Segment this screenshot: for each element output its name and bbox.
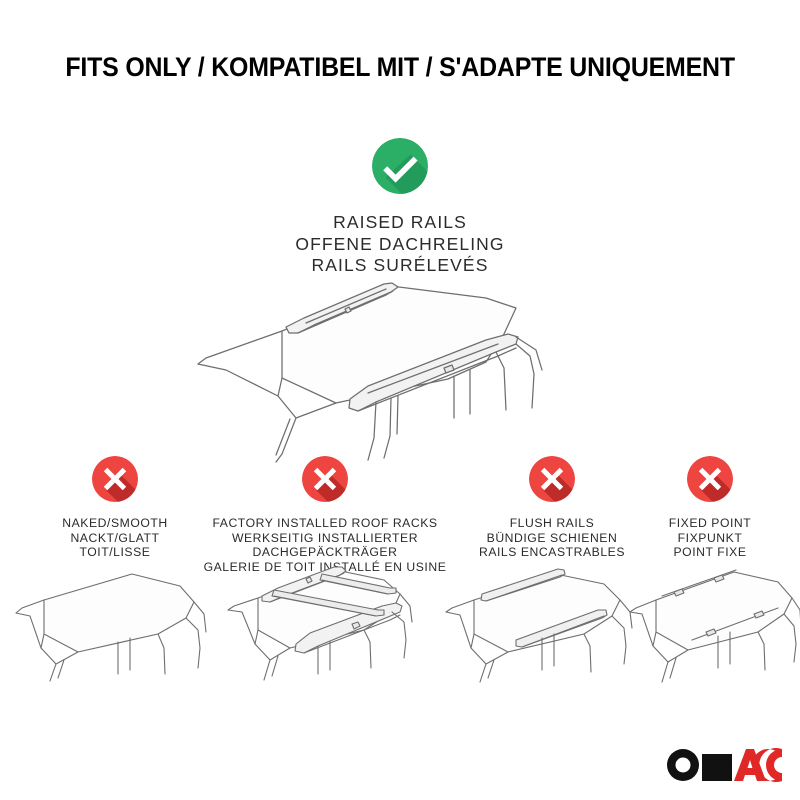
cross-circle-icon <box>529 456 575 502</box>
cross-circle-icon <box>302 456 348 502</box>
illustration-car-roof-factory-racks <box>218 548 438 683</box>
fixed-point-label-line-1: FIXED POINT <box>640 516 780 531</box>
incompatible-option-naked-smooth: NAKED/SMOOTH NACKT/GLATT TOIT/LISSE <box>15 456 215 560</box>
naked-smooth-label-line-2: NACKT/GLATT <box>15 531 215 546</box>
check-circle-icon <box>372 138 428 194</box>
compatible-labels: RAISED RAILS OFFENE DACHRELING RAILS SUR… <box>200 212 600 277</box>
compatible-label-line-3: RAILS SURÉLEVÉS <box>200 255 600 277</box>
cross-circle-icon <box>687 456 733 502</box>
page-title: FITS ONLY / KOMPATIBEL MIT / S'ADAPTE UN… <box>0 52 800 83</box>
omac-logo <box>666 748 782 782</box>
incompatible-option-fixed-point: FIXED POINT FIXPUNKT POINT FIXE <box>640 456 780 560</box>
naked-smooth-labels: NAKED/SMOOTH NACKT/GLATT TOIT/LISSE <box>15 516 215 560</box>
illustration-car-roof-fixed-point <box>622 552 800 682</box>
compatible-option-raised-rails: RAISED RAILS OFFENE DACHRELING RAILS SUR… <box>200 138 600 277</box>
compatible-label-line-2: OFFENE DACHRELING <box>200 234 600 256</box>
cross-circle-icon <box>92 456 138 502</box>
flush-rails-label-line-2: BÜNDIGE SCHIENEN <box>448 531 656 546</box>
illustration-car-roof-naked-smooth <box>8 556 208 681</box>
illustration-car-roof-raised-rails <box>186 278 616 463</box>
fixed-point-label-line-2: FIXPUNKT <box>640 531 780 546</box>
page-title-text: FITS ONLY / KOMPATIBEL MIT / S'ADAPTE UN… <box>65 52 735 83</box>
incompatible-option-flush-rails: FLUSH RAILS BÜNDIGE SCHIENEN RAILS ENCAS… <box>448 456 656 560</box>
compatible-label-line-1: RAISED RAILS <box>200 212 600 234</box>
flush-rails-label-line-1: FLUSH RAILS <box>448 516 656 531</box>
illustration-car-roof-flush-rails <box>438 554 638 682</box>
naked-smooth-label-line-1: NAKED/SMOOTH <box>15 516 215 531</box>
factory-racks-label-line-2: WERKSEITIG INSTALLIERTER <box>202 531 448 546</box>
factory-racks-label-line-1: FACTORY INSTALLED ROOF RACKS <box>202 516 448 531</box>
